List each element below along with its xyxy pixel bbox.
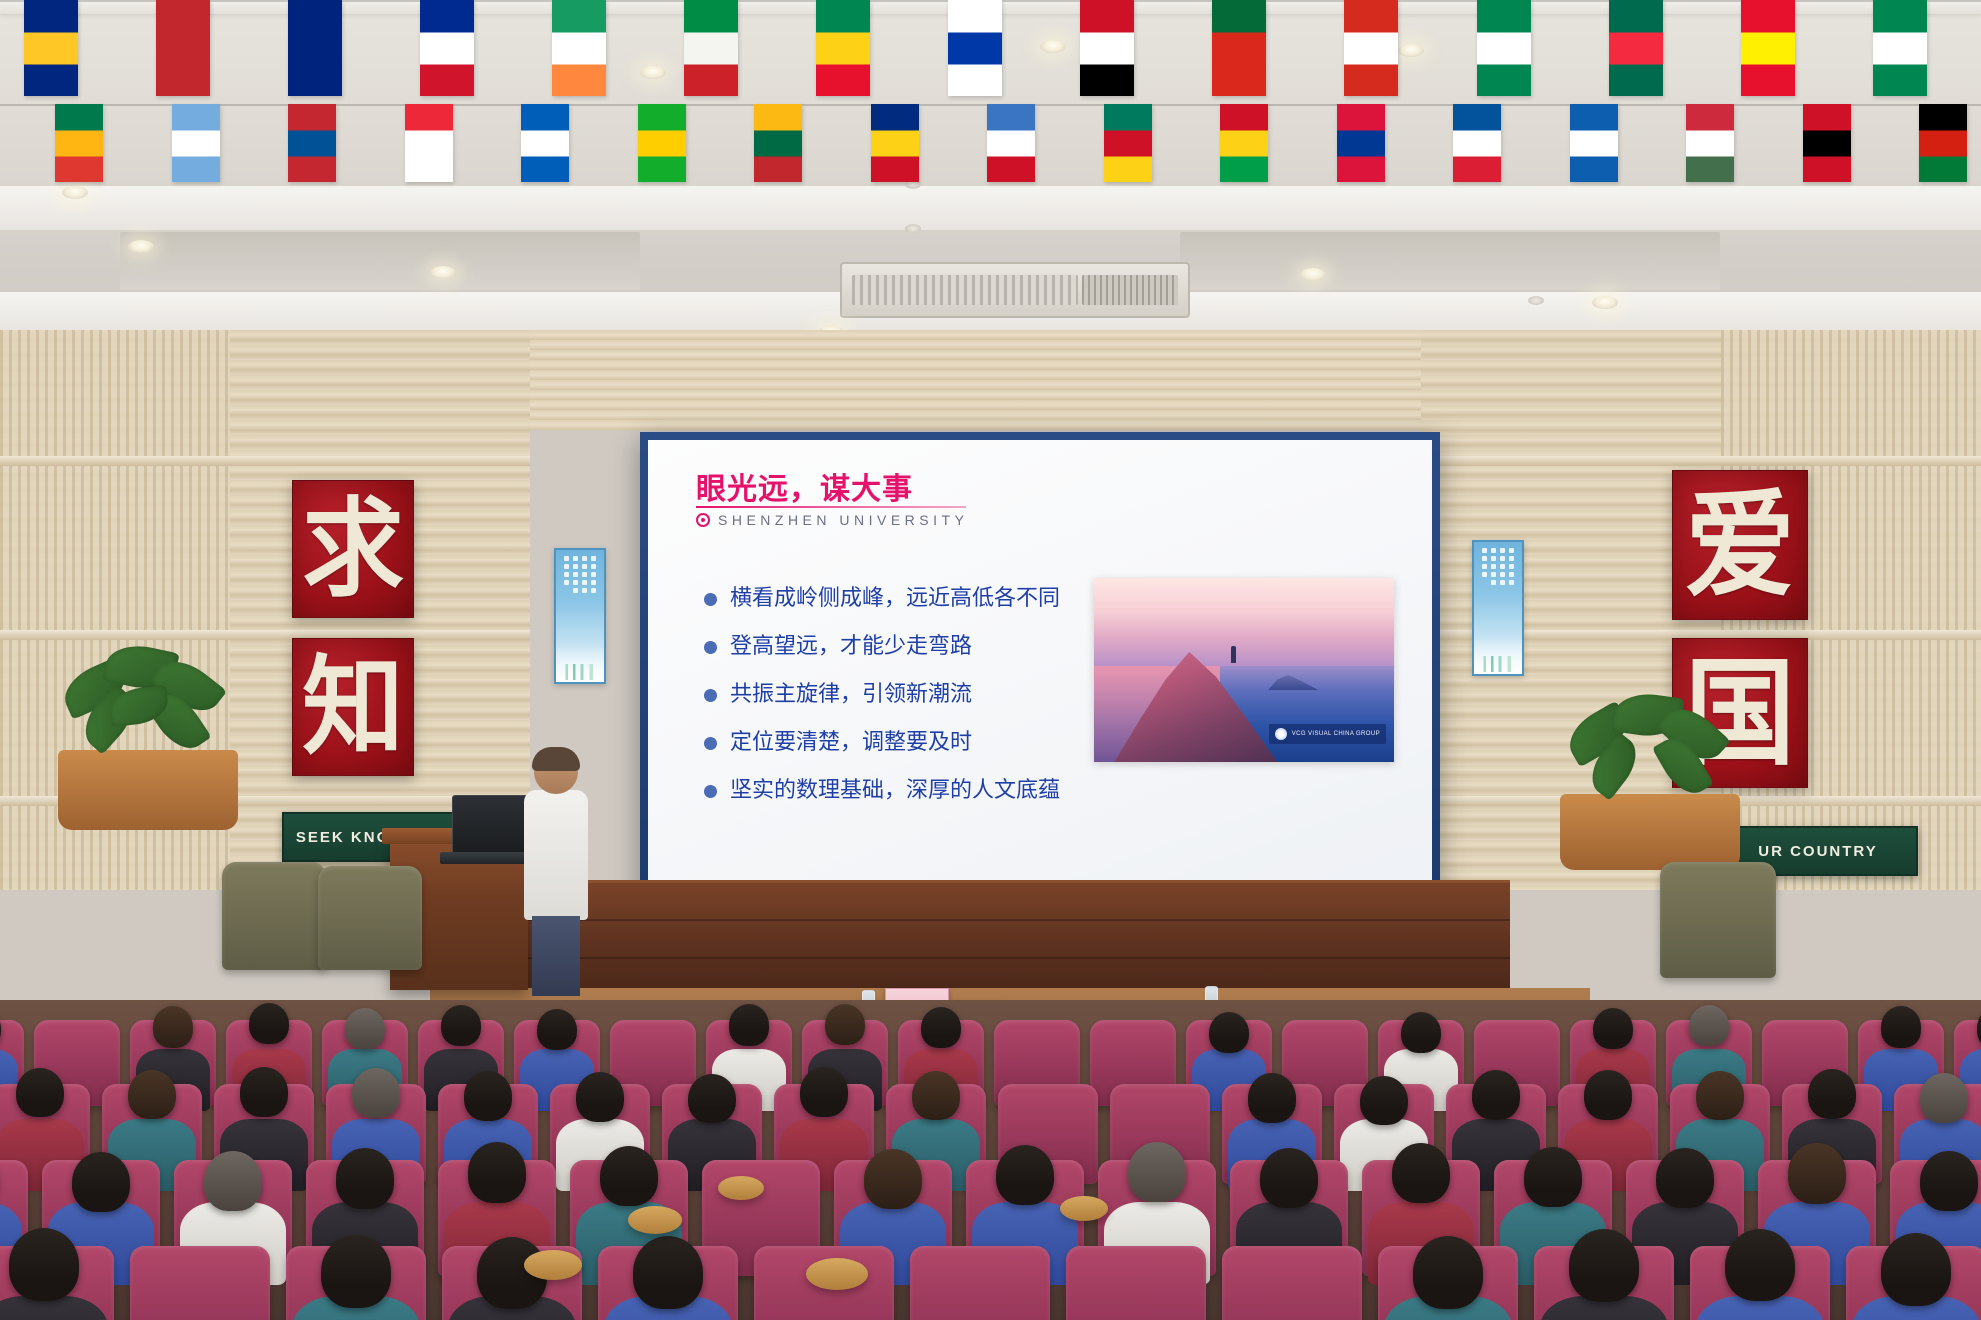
flag-iceland [1453, 104, 1501, 182]
flag-guinea-bissau [1220, 104, 1268, 182]
audience-person-head [321, 1235, 391, 1308]
flag-mongolia [288, 104, 336, 182]
slide-photo: VCG VISUAL CHINA GROUP [1094, 578, 1394, 762]
flag-sao-tome [638, 104, 686, 182]
slide-bullet: 横看成岭侧成峰，远近高低各不同 [704, 586, 1134, 612]
audience-person-head [1524, 1147, 1582, 1207]
flag-argentina [172, 104, 220, 182]
flag-lithuania [754, 104, 802, 182]
flag-hungary [1686, 104, 1734, 182]
slide-bullet: 登高望远，才能少走弯路 [704, 634, 1134, 660]
flag-uruguay [948, 0, 1002, 96]
audience-seat [1222, 1246, 1362, 1320]
audience-person-head [204, 1151, 262, 1211]
audience-person-head [1209, 1012, 1249, 1054]
flag-ireland [552, 0, 606, 96]
calligraphy-plaque-seek: 求 [292, 480, 414, 618]
wooden-stool [628, 1206, 682, 1234]
flag-nigeria2 [1873, 0, 1927, 96]
projection-screen-frame: 眼光远，谋大事 SHENZHEN UNIVERSITY 横看成岭侧成峰，远近高低… [640, 432, 1440, 910]
audience-person-head [576, 1072, 624, 1122]
slide-bullet-text: 定位要清楚，调整要及时 [730, 730, 972, 756]
watermark-logo-icon [1275, 728, 1287, 740]
calligraphy-plaque-love: 爱 [1672, 470, 1808, 620]
downlight-icon [430, 266, 456, 279]
audience-person-head [1656, 1148, 1714, 1208]
audience-seat [1066, 1246, 1206, 1320]
audience-person-head [688, 1074, 736, 1124]
photo-watermark: VCG VISUAL CHINA GROUP [1269, 724, 1386, 744]
slide-bullet: 坚实的数理基础，深厚的人文底蕴 [704, 778, 1134, 804]
audience-person-head [345, 1008, 385, 1050]
flag-garland-row-2 [0, 104, 1981, 105]
audience-person-head [1920, 1073, 1968, 1123]
flag-kyrgyzstan [1741, 0, 1795, 96]
slide-subtitle: SHENZHEN UNIVERSITY [718, 512, 968, 528]
audience-person-head [153, 1006, 193, 1048]
downlight-icon [640, 66, 666, 79]
audience-person-head [16, 1068, 64, 1118]
audience-person-head [1788, 1143, 1846, 1203]
audience-person-head [464, 1071, 512, 1121]
wall-poster-right [1472, 540, 1524, 676]
audience-person-head [825, 1004, 865, 1046]
audience-person-head [9, 1228, 79, 1301]
flag-italy [684, 0, 738, 96]
audience-person-head [921, 1007, 961, 1049]
audience-person-head [249, 1003, 289, 1045]
slide-bullet-text: 登高望远，才能少走弯路 [730, 634, 972, 660]
bullet-dot-icon [704, 641, 717, 654]
slide-bullet-text: 共振主旋律，引领新潮流 [730, 682, 972, 708]
audience-person-head [441, 1005, 481, 1047]
photo-person-figure [1231, 646, 1236, 663]
audience-seat [910, 1246, 1050, 1320]
flag-morocco [156, 0, 210, 96]
audience-person-head [996, 1145, 1054, 1205]
audience-person-head [1725, 1229, 1795, 1302]
slide-bullet-text: 坚实的数理基础，深厚的人文底蕴 [730, 778, 1060, 804]
flag-benin [816, 0, 870, 96]
audience-person-head [1593, 1008, 1633, 1050]
bullet-dot-icon [704, 737, 717, 750]
downlight-icon [1300, 268, 1326, 281]
shenzhen-university-logo-icon [696, 513, 710, 527]
downlight-icon [128, 240, 154, 253]
audience-person-head [1401, 1012, 1441, 1054]
stage-chair [222, 862, 326, 970]
audience-person-head [352, 1068, 400, 1118]
audience-person-head [1689, 1005, 1729, 1047]
audience-seating [0, 1000, 1981, 1320]
flag-cuba [420, 0, 474, 96]
bullet-dot-icon [704, 785, 717, 798]
downlight-icon [1398, 44, 1424, 57]
flag-afghanistan [1919, 104, 1967, 182]
audience-seat [130, 1246, 270, 1320]
audience-person-head [1569, 1229, 1639, 1302]
slide-bullet: 定位要清楚，调整要及时 [704, 730, 1134, 756]
slide-bullet-text: 横看成岭侧成峰，远近高低各不同 [730, 586, 1060, 612]
stage-chair [318, 866, 422, 970]
flag-syria [1080, 0, 1134, 96]
flag-barbados [24, 0, 78, 96]
bullet-dot-icon [704, 593, 717, 606]
audience-person-head [1413, 1236, 1483, 1309]
flag-portugal [1212, 0, 1266, 96]
audience-person-head [1696, 1071, 1744, 1121]
audience-person-head [1260, 1148, 1318, 1208]
audience-person-head [1584, 1070, 1632, 1120]
slide-bullet: 共振主旋律，引领新潮流 [704, 682, 1134, 708]
audience-person-head [72, 1152, 130, 1212]
audience-person-head [336, 1148, 394, 1208]
audience-person-head [1920, 1151, 1978, 1211]
smoke-detector-icon [1528, 296, 1544, 305]
audience-person-head [1248, 1073, 1296, 1123]
flag-bangladesh [1609, 0, 1663, 96]
bullet-dot-icon [704, 689, 717, 702]
wooden-stool [1060, 1196, 1108, 1221]
audience-person-head [864, 1149, 922, 1209]
audience-person-head [1472, 1070, 1520, 1120]
downlight-icon [1592, 296, 1618, 309]
wall-center-strip [500, 330, 1500, 430]
watermark-text: VCG VISUAL CHINA GROUP [1292, 731, 1380, 737]
smoke-detector-icon [905, 224, 921, 233]
audience-person-head [1392, 1143, 1450, 1203]
downlight-icon [1040, 40, 1066, 53]
audience-person-head [1881, 1233, 1951, 1306]
audience-person-head [1128, 1142, 1186, 1202]
audience-person-head [729, 1004, 769, 1046]
wooden-stool [718, 1176, 764, 1200]
stage-chair [1660, 862, 1776, 978]
slide-subtitle-row: SHENZHEN UNIVERSITY [696, 512, 968, 528]
audience-person-head [1881, 1006, 1921, 1048]
flag-scotland [521, 104, 569, 182]
slide-title-underline [696, 506, 966, 508]
audience-person-head [600, 1146, 658, 1206]
flag-comoros [987, 104, 1035, 182]
flag-nigeria [1477, 0, 1531, 96]
audience-person-head [468, 1142, 526, 1202]
flag-angola [1803, 104, 1851, 182]
slide-bullet-list: 横看成岭侧成峰，远近高低各不同登高望远，才能少走弯路共振主旋律，引领新潮流定位要… [704, 586, 1134, 804]
flag-garland-row-1 [0, 0, 1981, 1]
audience-person-head [1808, 1069, 1856, 1119]
flag-greece [1570, 104, 1618, 182]
flag-singapore [405, 104, 453, 182]
presentation-slide: 眼光远，谋大事 SHENZHEN UNIVERSITY 横看成岭侧成峰，远近高低… [648, 440, 1432, 902]
stage-backdrop [500, 880, 1510, 995]
flag-romania [871, 104, 919, 182]
audience-person-head [240, 1067, 288, 1117]
audience-person-head [800, 1067, 848, 1117]
slide-title: 眼光远，谋大事 [696, 464, 913, 508]
wall-poster-left [554, 548, 606, 684]
audience-person-head [128, 1070, 176, 1120]
flag-new-zealand [288, 0, 342, 96]
audience-person-head [633, 1236, 703, 1309]
calligraphy-plaque-knowledge: 知 [292, 638, 414, 776]
downlight-icon [62, 186, 88, 199]
flag-switzerland [1344, 0, 1398, 96]
lecture-hall-scene: 求 知 爱 国 SEEK KNOWLEDGE UR COUNTRY [0, 0, 1981, 1320]
photo-sky [1094, 578, 1394, 666]
wooden-stool [806, 1258, 868, 1290]
wooden-stool [524, 1250, 582, 1280]
flag-cameroon [1104, 104, 1152, 182]
air-conditioning-vent [840, 262, 1190, 318]
audience-person-head [1360, 1076, 1408, 1126]
speaker-presenter [520, 750, 592, 990]
potted-plant-right [1560, 690, 1740, 870]
potted-plant-left [58, 640, 238, 830]
audience-person-head [912, 1071, 960, 1121]
flag-south-africa [55, 104, 103, 182]
flag-nepal [1337, 104, 1385, 182]
audience-person-head [537, 1009, 577, 1051]
